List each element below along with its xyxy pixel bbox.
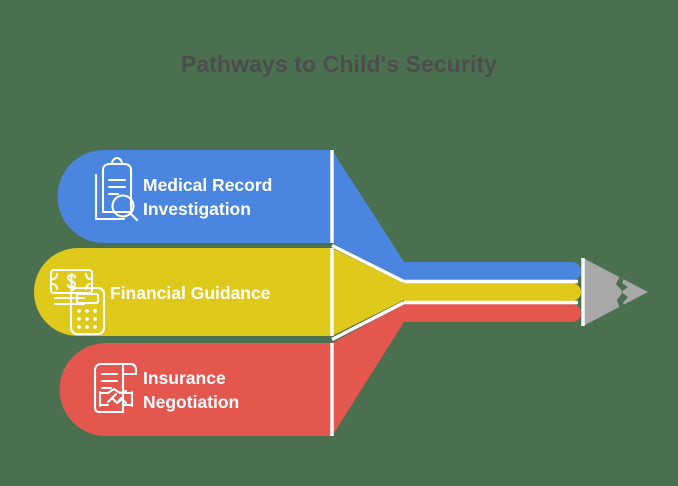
arrow-tip: [583, 258, 648, 326]
arrow-tip-point: [583, 258, 648, 326]
converging-arrow-diagram: [0, 0, 678, 486]
pathway-medical-stripe: [404, 262, 581, 280]
pathway-financial-stripe: [404, 283, 581, 301]
pathway-insurance-stripe: [404, 304, 581, 322]
pathway-financial[interactable]: [34, 248, 581, 336]
infographic-canvas: Pathways to Child's Security: [0, 0, 678, 486]
